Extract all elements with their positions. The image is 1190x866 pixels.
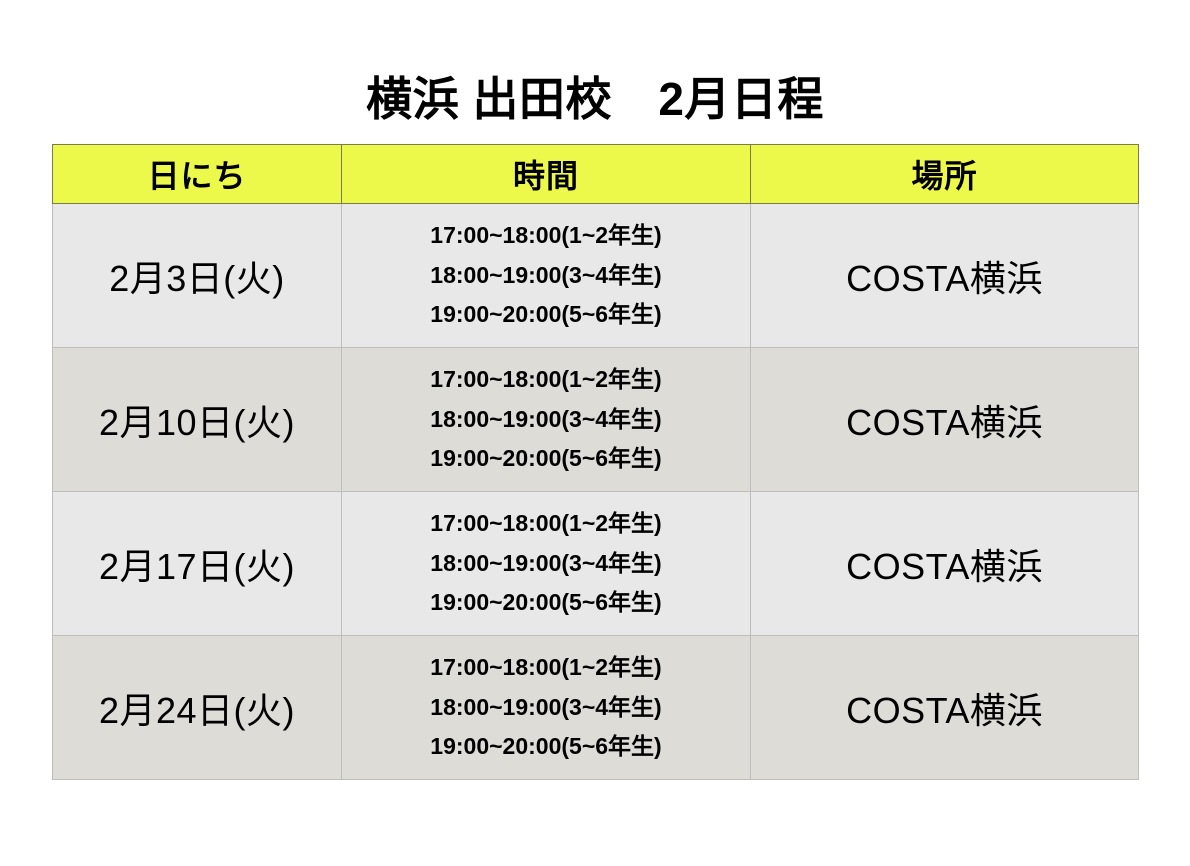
schedule-table: 日にち 時間 場所 2月3日(火)17:00~18:00(1~2年生)18:00… — [52, 144, 1139, 780]
page-title: 横浜 出田校 2月日程 — [0, 71, 1190, 129]
column-header-place: 場所 — [751, 145, 1139, 204]
table-row: 2月10日(火)17:00~18:00(1~2年生)18:00~19:00(3~… — [53, 348, 1139, 492]
cell-date: 2月10日(火) — [53, 348, 342, 492]
time-slot: 19:00~20:00(5~6年生) — [342, 295, 750, 335]
time-slot: 19:00~20:00(5~6年生) — [342, 439, 750, 479]
cell-place: COSTA横浜 — [751, 204, 1139, 348]
cell-place: COSTA横浜 — [751, 636, 1139, 780]
time-slot: 18:00~19:00(3~4年生) — [342, 688, 750, 728]
time-slot: 18:00~19:00(3~4年生) — [342, 544, 750, 584]
table-row: 2月3日(火)17:00~18:00(1~2年生)18:00~19:00(3~4… — [53, 204, 1139, 348]
column-header-date: 日にち — [53, 145, 342, 204]
table-header-row: 日にち 時間 場所 — [53, 145, 1139, 204]
schedule-table-container: 日にち 時間 場所 2月3日(火)17:00~18:00(1~2年生)18:00… — [52, 144, 1138, 780]
cell-place: COSTA横浜 — [751, 348, 1139, 492]
table-row: 2月17日(火)17:00~18:00(1~2年生)18:00~19:00(3~… — [53, 492, 1139, 636]
cell-place: COSTA横浜 — [751, 492, 1139, 636]
cell-time: 17:00~18:00(1~2年生)18:00~19:00(3~4年生)19:0… — [342, 636, 751, 780]
table-row: 2月24日(火)17:00~18:00(1~2年生)18:00~19:00(3~… — [53, 636, 1139, 780]
table-body: 2月3日(火)17:00~18:00(1~2年生)18:00~19:00(3~4… — [53, 204, 1139, 780]
time-slot: 18:00~19:00(3~4年生) — [342, 256, 750, 296]
time-slot: 17:00~18:00(1~2年生) — [342, 648, 750, 688]
cell-date: 2月24日(火) — [53, 636, 342, 780]
cell-date: 2月17日(火) — [53, 492, 342, 636]
cell-time: 17:00~18:00(1~2年生)18:00~19:00(3~4年生)19:0… — [342, 492, 751, 636]
cell-time: 17:00~18:00(1~2年生)18:00~19:00(3~4年生)19:0… — [342, 204, 751, 348]
cell-date: 2月3日(火) — [53, 204, 342, 348]
time-slot: 17:00~18:00(1~2年生) — [342, 504, 750, 544]
time-slot: 18:00~19:00(3~4年生) — [342, 400, 750, 440]
table-header: 日にち 時間 場所 — [53, 145, 1139, 204]
time-slot: 19:00~20:00(5~6年生) — [342, 583, 750, 623]
time-slot: 17:00~18:00(1~2年生) — [342, 360, 750, 400]
time-slot: 17:00~18:00(1~2年生) — [342, 216, 750, 256]
column-header-time: 時間 — [342, 145, 751, 204]
cell-time: 17:00~18:00(1~2年生)18:00~19:00(3~4年生)19:0… — [342, 348, 751, 492]
time-slot: 19:00~20:00(5~6年生) — [342, 727, 750, 767]
